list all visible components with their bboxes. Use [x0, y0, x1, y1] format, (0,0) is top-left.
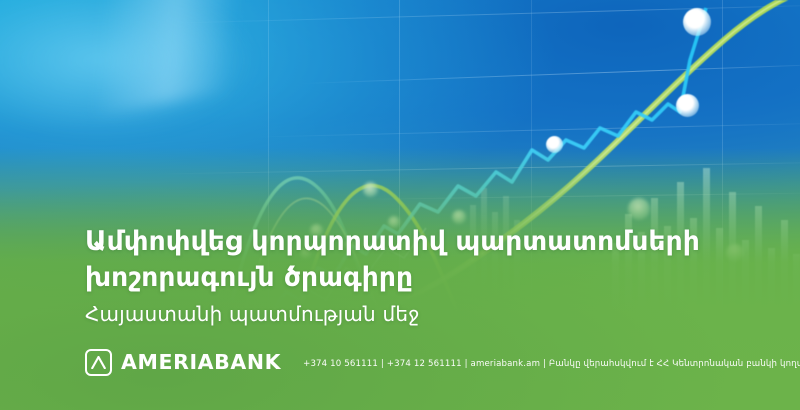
- ameriabank-promo-banner: Ամփոփվեց կորպորատիվ պարտատոմսերի խոշորագ…: [0, 0, 800, 410]
- headline: Ամփոփվեց կորպորատիվ պարտատոմսերի խոշորագ…: [85, 224, 735, 296]
- ameriabank-logo[interactable]: AMERIABANK: [85, 349, 281, 376]
- contact-info: +374 10 561111 | +374 12 561111 | ameria…: [303, 357, 800, 369]
- footer-bar: AMERIABANK +374 10 561111 | +374 12 5611…: [85, 349, 800, 376]
- headline-line-1: Ամփոփվեց կորպորատիվ պարտատոմսերի: [85, 224, 735, 260]
- subheadline: Հայաստանի պատմության մեջ: [85, 301, 420, 327]
- lambda-a-icon: [85, 349, 112, 376]
- logo-wordmark: AMERIABANK: [121, 352, 281, 373]
- headline-line-2: խոշորագույն ծրագիրը: [85, 260, 735, 296]
